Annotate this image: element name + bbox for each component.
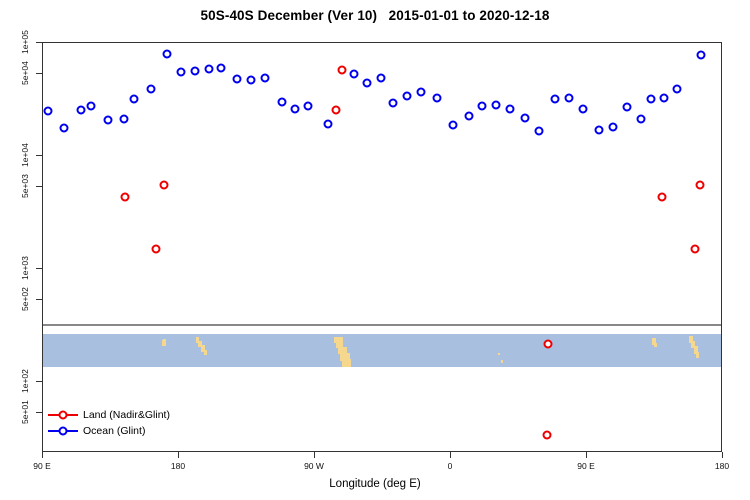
data-point-land (152, 245, 161, 254)
data-point-land (543, 431, 552, 440)
data-point-land (160, 181, 169, 190)
legend-item[interactable]: Land (Nadir&Glint) (48, 407, 170, 422)
data-point-ocean (506, 105, 515, 114)
y-tick-label: 1e+04 (20, 138, 30, 172)
data-point-ocean (233, 75, 242, 84)
x-tick-mark (178, 452, 179, 458)
landmass-shape (696, 352, 699, 358)
data-point-ocean (673, 85, 682, 94)
data-point-ocean (363, 79, 372, 88)
map-divider-line (43, 324, 721, 326)
data-point-ocean (205, 65, 214, 74)
data-point-land (338, 66, 347, 75)
data-point-ocean (492, 101, 501, 110)
data-point-ocean (535, 127, 544, 136)
y-tick-label: 5e+03 (20, 169, 30, 203)
x-tick-mark (586, 452, 587, 458)
data-point-ocean (565, 94, 574, 103)
x-tick-label: 90 E (33, 461, 51, 471)
x-tick-mark (42, 452, 43, 458)
plot-area (42, 42, 722, 452)
data-point-ocean (147, 85, 156, 94)
data-point-ocean (104, 116, 113, 125)
x-tick-label: 180 (171, 461, 185, 471)
world-map-band (43, 334, 721, 367)
data-point-land (544, 340, 553, 349)
y-tick-label: 5e+01 (20, 395, 30, 429)
data-point-ocean (433, 94, 442, 103)
x-tick-label: 90 E (577, 461, 595, 471)
legend-item-label: Land (Nadir&Glint) (83, 409, 170, 421)
data-point-ocean (177, 68, 186, 77)
data-point-ocean (304, 102, 313, 111)
legend: Land (Nadir&Glint)Ocean (Glint) (44, 404, 176, 441)
data-point-ocean (403, 92, 412, 101)
data-point-ocean (377, 74, 386, 83)
data-point-ocean (247, 76, 256, 85)
data-point-ocean (163, 50, 172, 59)
page-title: 50S-40S December (Ver 10) 2015-01-01 to … (0, 8, 750, 23)
data-point-ocean (261, 74, 270, 83)
x-tick-mark (722, 452, 723, 458)
data-point-ocean (579, 105, 588, 114)
landmass-shape (204, 350, 207, 355)
y-tick-label: 1e+03 (20, 251, 30, 285)
data-point-ocean (417, 88, 426, 97)
data-point-ocean (449, 121, 458, 130)
y-tick-label: 1e+05 (20, 25, 30, 59)
data-point-land (696, 181, 705, 190)
data-point-ocean (521, 114, 530, 123)
landmass-shape (654, 343, 657, 347)
x-tick-label: 0 (448, 461, 453, 471)
landmass-shape (501, 360, 503, 363)
landmass-shape (498, 353, 500, 355)
legend-marker-icon (48, 425, 78, 437)
data-point-ocean (60, 124, 69, 133)
data-point-ocean (465, 112, 474, 121)
scatter-plot-figure: 50S-40S December (Ver 10) 2015-01-01 to … (0, 0, 750, 500)
x-tick-label: 90 W (304, 461, 324, 471)
data-point-ocean (120, 115, 129, 124)
data-point-ocean (217, 64, 226, 73)
landmass-shape (342, 359, 351, 367)
data-point-ocean (191, 67, 200, 76)
x-tick-mark (314, 452, 315, 458)
data-point-land (658, 193, 667, 202)
y-tick-label: 5e+02 (20, 282, 30, 316)
y-tick-label: 1e+02 (20, 364, 30, 398)
data-point-land (332, 106, 341, 115)
data-point-land (691, 245, 700, 254)
data-point-ocean (389, 99, 398, 108)
x-tick-mark (450, 452, 451, 458)
legend-item[interactable]: Ocean (Glint) (48, 423, 170, 438)
data-point-ocean (637, 115, 646, 124)
landmass-shape (163, 339, 166, 342)
data-point-ocean (609, 123, 618, 132)
data-point-ocean (278, 98, 287, 107)
data-point-ocean (623, 103, 632, 112)
data-point-ocean (324, 120, 333, 129)
data-point-ocean (551, 95, 560, 104)
data-point-ocean (130, 95, 139, 104)
data-point-ocean (291, 105, 300, 114)
data-point-ocean (478, 102, 487, 111)
y-tick-label: 5e+04 (20, 56, 30, 90)
data-point-ocean (350, 70, 359, 79)
data-point-land (121, 193, 130, 202)
data-point-ocean (697, 51, 706, 60)
data-point-ocean (660, 94, 669, 103)
data-point-ocean (647, 95, 656, 104)
data-point-ocean (87, 102, 96, 111)
data-point-ocean (77, 106, 86, 115)
x-tick-label: 180 (715, 461, 729, 471)
legend-marker-icon (48, 409, 78, 421)
data-point-ocean (595, 126, 604, 135)
legend-item-label: Ocean (Glint) (83, 425, 145, 437)
data-point-ocean (44, 107, 53, 116)
x-axis-title: Longitude (deg E) (0, 478, 750, 490)
